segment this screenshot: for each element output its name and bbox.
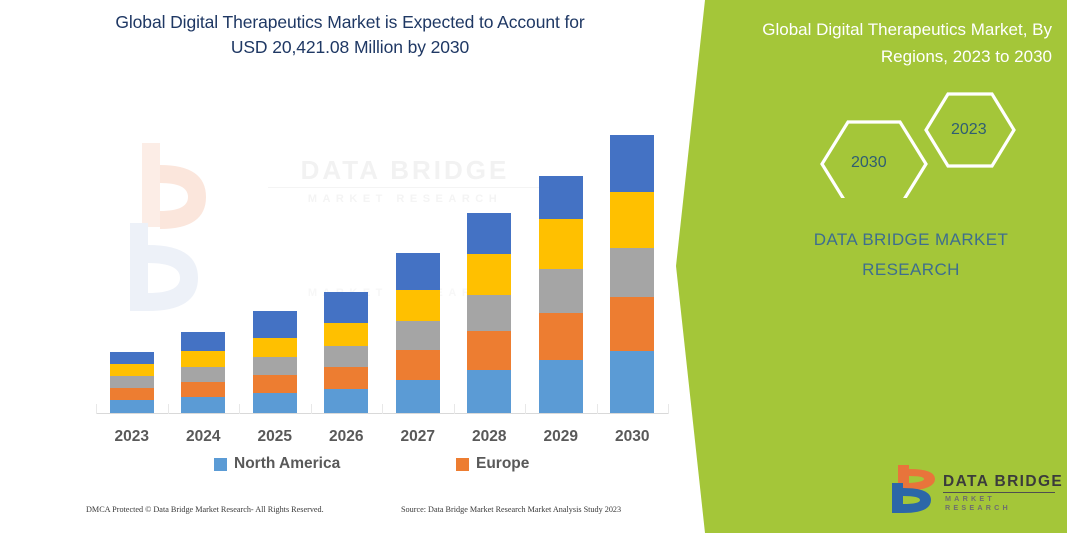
bar-segment-2023-europe[interactable] [110, 388, 154, 400]
x-axis-label-2024: 2024 [167, 428, 239, 446]
x-axis-label-2025: 2025 [239, 428, 311, 446]
x-axis-label-2030: 2030 [596, 428, 668, 446]
bar-segment-2028-asia-pacific[interactable] [467, 295, 511, 331]
legend-item-north-america[interactable]: North America [214, 455, 340, 473]
x-axis-tick [168, 404, 169, 414]
bar-2027[interactable] [396, 253, 440, 413]
bar-segment-2029-north-america[interactable] [539, 360, 583, 413]
logo-title: DATA BRIDGE [943, 473, 1063, 491]
bar-2028[interactable] [467, 213, 511, 413]
footer: DMCA Protected © Data Bridge Market Rese… [0, 505, 700, 527]
bar-2023[interactable] [110, 352, 154, 413]
bar-2024[interactable] [181, 332, 225, 413]
bar-segment-2030-series-4[interactable] [610, 192, 654, 248]
bar-segment-2030-europe[interactable] [610, 297, 654, 351]
bar-segment-2024-europe[interactable] [181, 382, 225, 397]
page-title: Global Digital Therapeutics Market is Ex… [60, 10, 640, 60]
x-axis-tick [382, 404, 383, 414]
footer-copyright: DMCA Protected © Data Bridge Market Rese… [86, 505, 324, 514]
bar-segment-2023-north-america[interactable] [110, 400, 154, 413]
bar-segment-2024-series-5[interactable] [181, 332, 225, 351]
logo: DATA BRIDGE MARKET RESEARCH [891, 463, 1066, 523]
bar-segment-2023-asia-pacific[interactable] [110, 376, 154, 388]
bar-segment-2026-series-5[interactable] [324, 292, 368, 323]
x-axis-label-2027: 2027 [382, 428, 454, 446]
x-axis-label-2028: 2028 [453, 428, 525, 446]
x-axis-tick [525, 404, 526, 414]
hexagon-label-2023: 2023 [951, 121, 987, 139]
bar-2030[interactable] [610, 135, 654, 413]
bar-segment-2027-asia-pacific[interactable] [396, 321, 440, 350]
x-axis-tick [239, 404, 240, 414]
bar-segment-2023-series-5[interactable] [110, 352, 154, 364]
bar-2026[interactable] [324, 292, 368, 413]
legend-item-europe[interactable]: Europe [456, 455, 529, 473]
bar-segment-2027-series-5[interactable] [396, 253, 440, 290]
x-axis-label-2023: 2023 [96, 428, 168, 446]
brand-name-line2: RESEARCH [862, 260, 960, 279]
regions-panel-title: Global Digital Therapeutics Market, By R… [722, 16, 1052, 70]
bar-segment-2026-asia-pacific[interactable] [324, 346, 368, 367]
regions-panel-title-line2: Regions, 2023 to 2030 [881, 47, 1052, 66]
x-axis-label-2029: 2029 [525, 428, 597, 446]
hexagon-label-2030: 2030 [851, 154, 887, 172]
x-axis-tick [454, 404, 455, 414]
bar-segment-2026-europe[interactable] [324, 367, 368, 389]
bar-segment-2028-north-america[interactable] [467, 370, 511, 413]
bar-segment-2028-series-5[interactable] [467, 213, 511, 254]
bar-segment-2026-series-4[interactable] [324, 323, 368, 346]
x-axis-label-2026: 2026 [310, 428, 382, 446]
bar-segment-2026-north-america[interactable] [324, 389, 368, 413]
bar-2029[interactable] [539, 176, 583, 413]
bar-segment-2025-series-4[interactable] [253, 338, 297, 357]
regions-panel: Global Digital Therapeutics Market, By R… [676, 0, 1067, 533]
bar-segment-2029-europe[interactable] [539, 313, 583, 360]
x-axis-tick [96, 404, 97, 414]
bar-segment-2030-series-5[interactable] [610, 135, 654, 192]
legend-swatch-icon [456, 458, 469, 471]
logo-mark-icon [891, 463, 941, 515]
bar-segment-2024-series-4[interactable] [181, 351, 225, 367]
regions-panel-title-line1: Global Digital Therapeutics Market, By [762, 20, 1052, 39]
x-axis-labels: 20232024202520262027202820292030 [96, 428, 668, 454]
bar-segment-2029-asia-pacific[interactable] [539, 269, 583, 313]
bar-segment-2025-series-5[interactable] [253, 311, 297, 338]
bar-segment-2028-europe[interactable] [467, 331, 511, 370]
bar-segment-2025-asia-pacific[interactable] [253, 357, 297, 375]
bar-segment-2028-series-4[interactable] [467, 254, 511, 295]
bar-chart-plot-area [96, 120, 668, 413]
legend-label: Europe [476, 455, 529, 473]
bar-segment-2030-asia-pacific[interactable] [610, 248, 654, 297]
bar-segment-2030-north-america[interactable] [610, 351, 654, 413]
page-title-line2: USD 20,421.08 Million by 2030 [231, 37, 469, 57]
bar-segment-2027-europe[interactable] [396, 350, 440, 380]
logo-rule [943, 492, 1055, 493]
bar-segment-2027-series-4[interactable] [396, 290, 440, 321]
brand-name-line1: DATA BRIDGE MARKET [814, 230, 1009, 249]
bar-segment-2029-series-4[interactable] [539, 219, 583, 269]
bar-segment-2025-north-america[interactable] [253, 393, 297, 413]
x-axis-tick [311, 404, 312, 414]
bar-2025[interactable] [253, 311, 297, 413]
bar-segment-2029-series-5[interactable] [539, 176, 583, 219]
bar-segment-2027-north-america[interactable] [396, 380, 440, 413]
footer-source: Source: Data Bridge Market Research Mark… [401, 505, 621, 514]
brand-name: DATA BRIDGE MARKET RESEARCH [786, 225, 1036, 285]
bar-segment-2023-series-4[interactable] [110, 364, 154, 376]
x-axis-tick [668, 404, 669, 414]
bar-segment-2024-asia-pacific[interactable] [181, 367, 225, 382]
legend-label: North America [234, 455, 340, 473]
logo-subtitle: MARKET RESEARCH [945, 494, 1066, 512]
legend-swatch-icon [214, 458, 227, 471]
hexagon-badges: 2023 2030 [796, 88, 1056, 198]
chart-panel: Global Digital Therapeutics Market is Ex… [0, 0, 710, 533]
bar-segment-2025-europe[interactable] [253, 375, 297, 393]
bar-segment-2024-north-america[interactable] [181, 397, 225, 413]
x-axis-tick [597, 404, 598, 414]
chart-legend: North AmericaEurope [96, 455, 668, 481]
infographic-root: Global Digital Therapeutics Market is Ex… [0, 0, 1067, 533]
page-title-line1: Global Digital Therapeutics Market is Ex… [115, 12, 584, 32]
